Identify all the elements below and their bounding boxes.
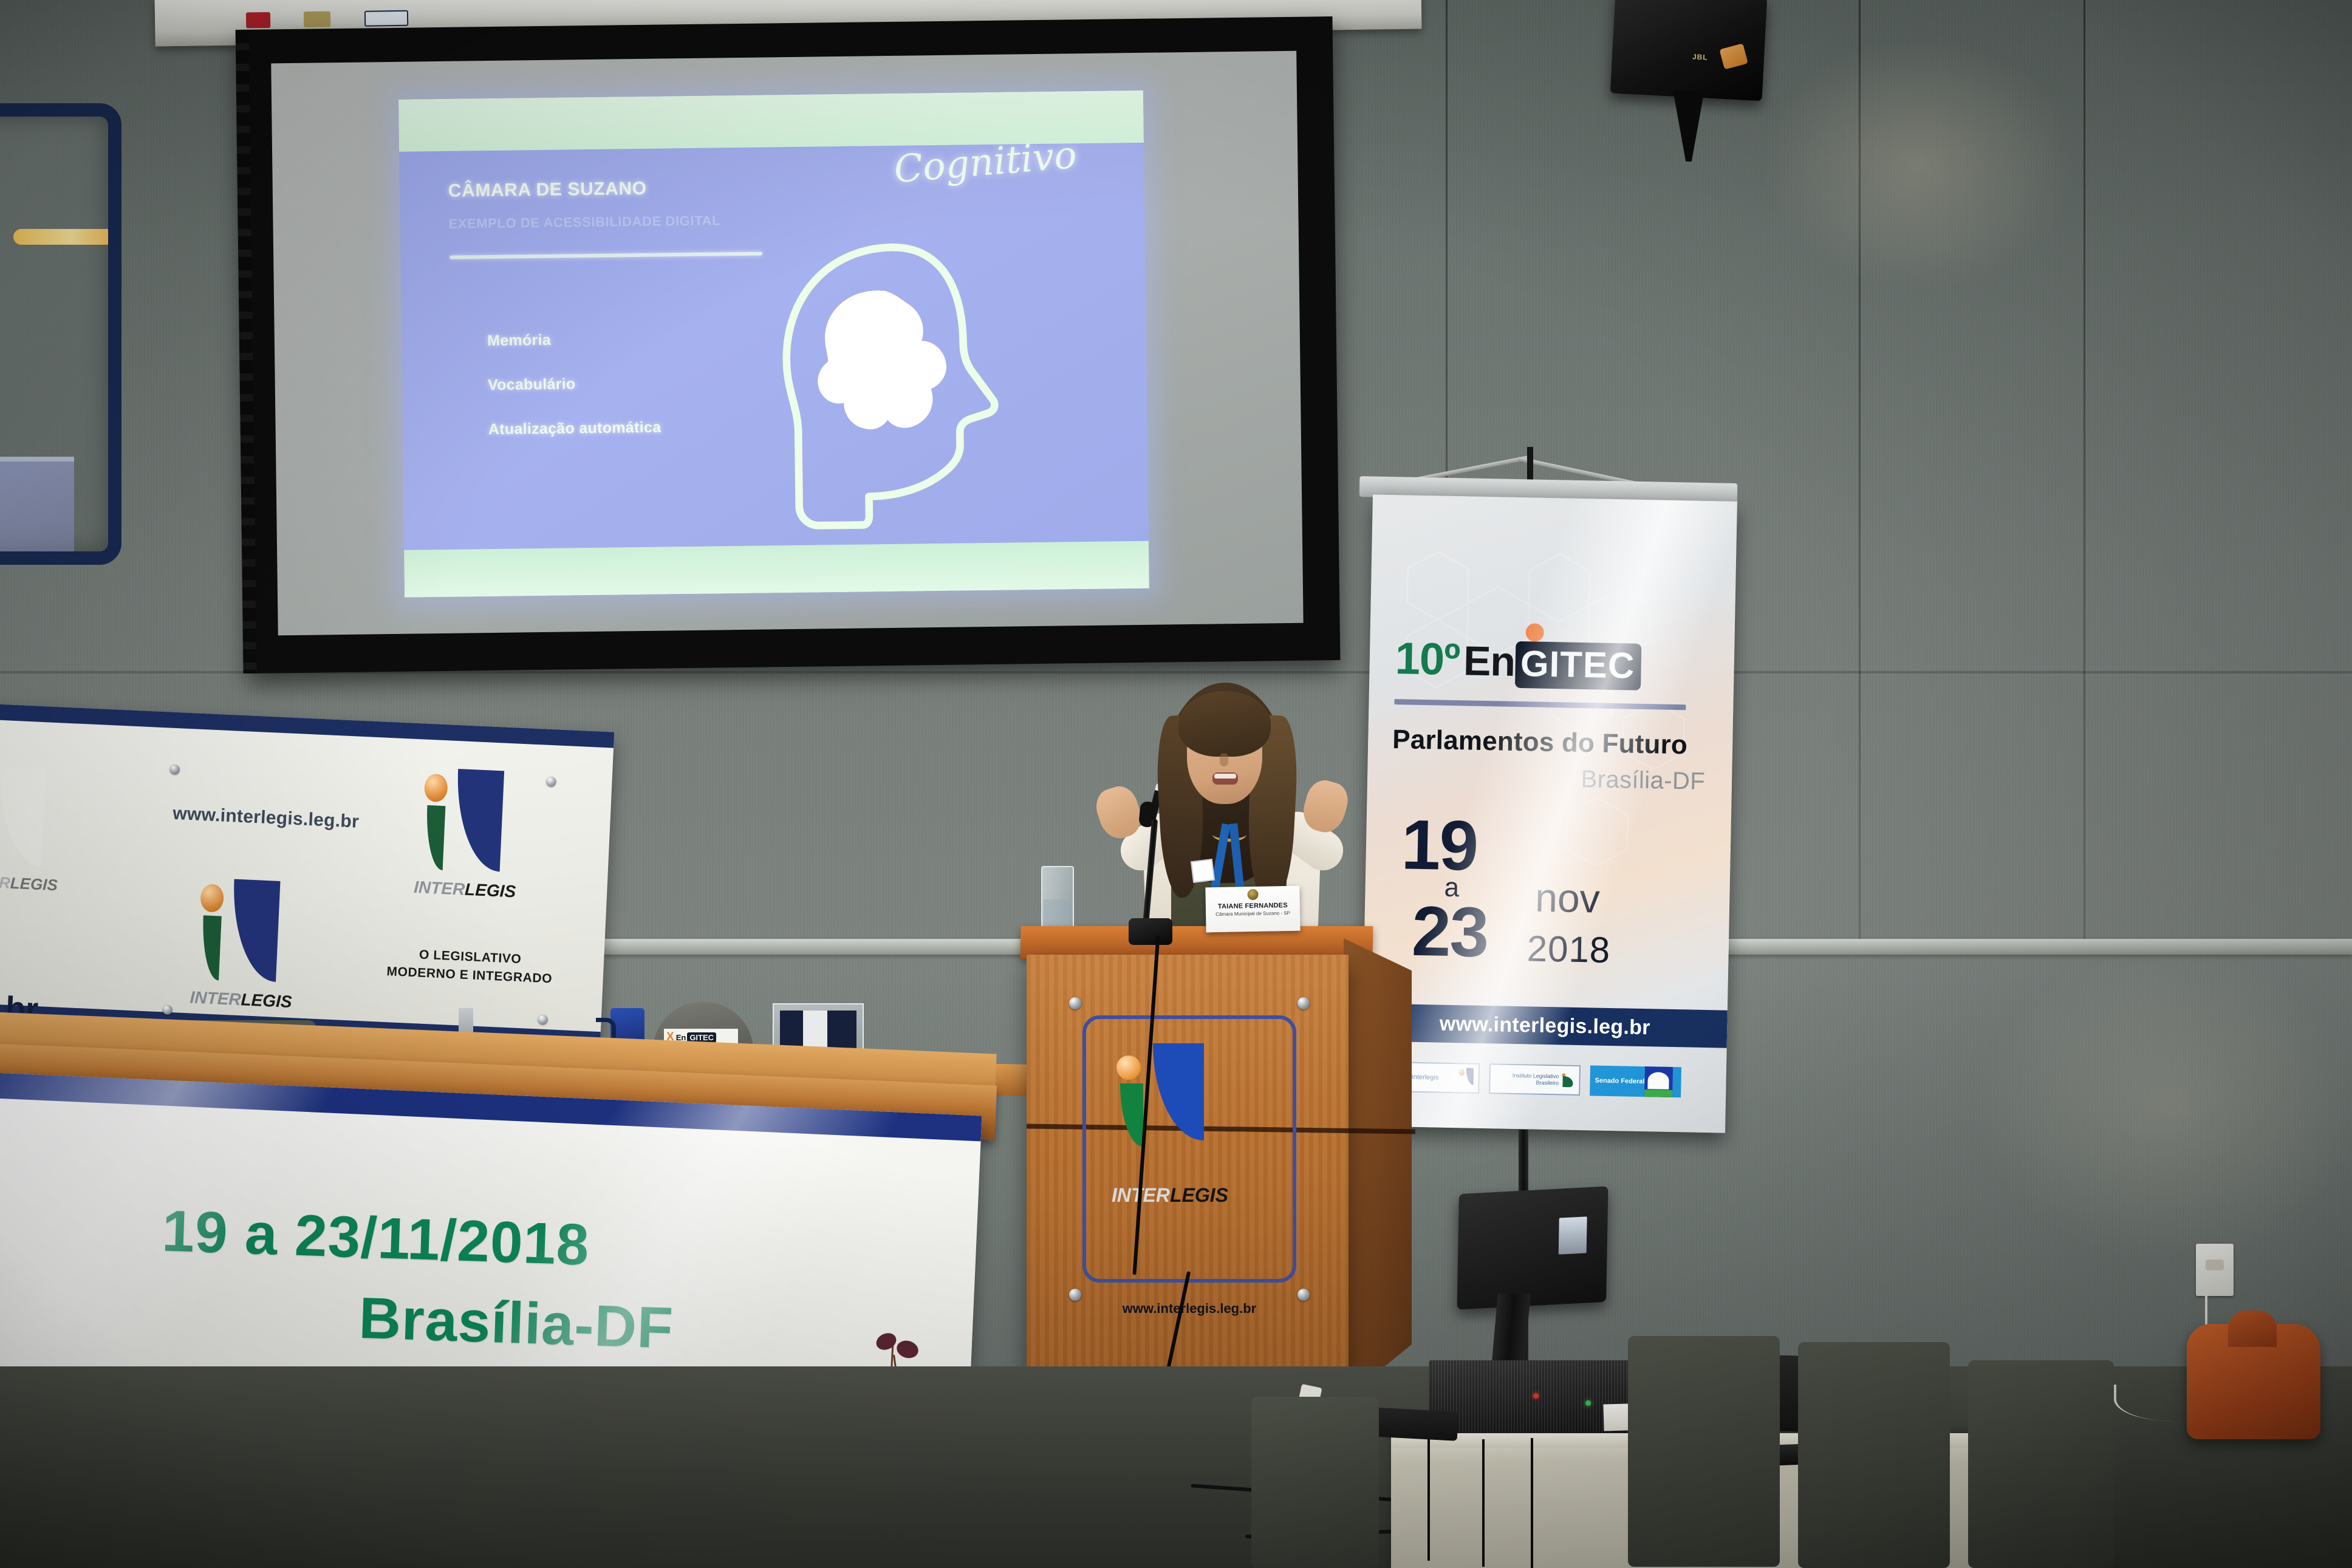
- wordmark-legis: LEGIS: [10, 874, 58, 895]
- projection-screen: CÂMARA DE SUZANO EXEMPLO DE ACESSIBILIDA…: [239, 16, 1341, 673]
- speaker-nameplate: TAIANE FERNANDES Câmara Municipal de Suz…: [1205, 886, 1300, 933]
- banner-light-sheen: [1361, 494, 1737, 1133]
- slide-bullet-list: Memória Vocabulário Atualização automáti…: [487, 330, 661, 438]
- wordmark-legis: LEGIS: [465, 880, 516, 901]
- plaque-screw: [1069, 1289, 1081, 1301]
- housing-label-gold: [304, 12, 330, 28]
- plaque-screw: [1297, 1289, 1310, 1301]
- glass-window-panel: [0, 103, 121, 565]
- sign-screw: [169, 765, 180, 775]
- wall-seam: [2084, 0, 2085, 947]
- housing-label-white: [364, 10, 408, 27]
- slide-title: CÂMARA DE SUZANO: [448, 179, 647, 202]
- flower-leaf: [873, 1330, 899, 1353]
- slide-bullet-3: Atualização automática: [488, 419, 661, 438]
- sign-screw: [546, 777, 556, 787]
- podium-interlegis-plaque: INTERLEGIS www.interlegis.leg.br: [1082, 1015, 1296, 1283]
- interlegis-dot-icon: [200, 884, 224, 913]
- gooseneck-mic-base: [1129, 918, 1172, 945]
- head-brain-icon: [728, 221, 1059, 553]
- pc-activity-led: [1585, 1400, 1591, 1406]
- nose: [1220, 753, 1228, 766]
- wordmark-legis: LEGIS: [1170, 1184, 1228, 1206]
- housing-label-red: [246, 12, 270, 29]
- chair-back: [1798, 1342, 1950, 1568]
- slide-bullet-1: Memória: [487, 330, 660, 350]
- slide-divider-rule: [450, 252, 762, 259]
- nameplate-organization: Câmara Municipal de Suzano - SP: [1215, 910, 1290, 917]
- mouth: [1212, 772, 1238, 785]
- engitec-rollup-banner: 10º En GITEC Parlamentos do Futuro Brasí…: [1361, 494, 1737, 1133]
- wall-outlet[interactable]: [2196, 1244, 2234, 1296]
- sign-url-text: www.interlegis.leg.br: [173, 803, 360, 833]
- banner-date: 19 a 23/11/2018: [161, 1198, 590, 1278]
- interlegis-logo: INTERLEGIS: [182, 877, 315, 1010]
- window-projection-reflection: [0, 457, 74, 565]
- window-light-reflection: [13, 229, 121, 245]
- interlegis-j-blue: [230, 879, 280, 982]
- teeth: [1214, 774, 1236, 779]
- interlegis-wordmark: INTERLEGIS: [190, 987, 292, 1012]
- banner-city: Brasília-DF: [358, 1285, 674, 1362]
- chair-back: [1251, 1397, 1379, 1568]
- interlegis-dot-icon: [1116, 1055, 1141, 1080]
- wordmark-inter: INTER: [0, 871, 11, 892]
- loudspeaker-icon: JBL: [1610, 0, 1768, 101]
- wordmark-legis: LEGIS: [241, 990, 292, 1011]
- monitor-sticker: [1559, 1216, 1587, 1255]
- wall-seam: [1859, 0, 1861, 947]
- water-glass: [1041, 866, 1074, 933]
- chair-back: [1628, 1336, 1780, 1567]
- podium-side-face: [1344, 938, 1412, 1400]
- plaque-screw: [1297, 997, 1310, 1009]
- desktop-pc-tower[interactable]: [1429, 1360, 1633, 1433]
- speaker-sticker: [1719, 43, 1748, 69]
- interlegis-logo: INTERLEGIS: [0, 763, 84, 890]
- hair-front: [1178, 691, 1271, 757]
- orange-backpack: [2187, 1324, 2320, 1439]
- interlegis-wordmark: INTERLEGIS: [1112, 1184, 1228, 1207]
- flower-leaf: [895, 1338, 920, 1361]
- presentation-slide: CÂMARA DE SUZANO EXEMPLO DE ACESSIBILIDA…: [398, 90, 1149, 597]
- speaker-brand-mark: JBL: [1692, 52, 1708, 61]
- podium-top-surface: [1020, 926, 1373, 959]
- wordmark-inter: INTER: [414, 878, 465, 899]
- plaque-url: www.interlegis.leg.br: [1123, 1301, 1256, 1317]
- interlegis-j-green: [200, 915, 222, 980]
- pc-power-led: [1533, 1393, 1539, 1399]
- sign-tagline: O LEGISLATIVO MODERNO E INTEGRADO: [372, 944, 567, 989]
- interlegis-j-green: [425, 805, 446, 870]
- slide-subtitle: EXEMPLO DE ACESSIBILIDADE DIGITAL: [448, 213, 720, 231]
- slide-bullet-2: Vocabulário: [488, 375, 661, 394]
- interlegis-dot-icon: [424, 774, 448, 803]
- interlegis-wall-sign: www.interlegis.leg.br INTERLEGIS INTERLE…: [0, 701, 614, 1048]
- conference-photo-scene: CÂMARA DE SUZANO EXEMPLO DE ACESSIBILIDA…: [0, 0, 2352, 1568]
- nameplate-name: TAIANE FERNANDES: [1218, 902, 1288, 910]
- wordmark-inter: INTER: [190, 987, 241, 1009]
- interlegis-wordmark: INTERLEGIS: [414, 878, 516, 902]
- screen-surface: CÂMARA DE SUZANO EXEMPLO DE ACESSIBILIDA…: [271, 51, 1303, 636]
- republic-crest-icon: [1247, 889, 1258, 900]
- interlegis-logo: INTERLEGIS: [406, 767, 539, 900]
- plaque-screw: [1069, 997, 1081, 1009]
- chair-back: [1968, 1360, 2114, 1568]
- lapel-pin-interlegis: [1191, 859, 1215, 883]
- interlegis-wordmark: INTERLEGIS: [0, 871, 58, 895]
- interlegis-j-blue: [0, 768, 46, 867]
- interlegis-j-blue: [454, 769, 504, 871]
- computer-monitor[interactable]: [1457, 1186, 1608, 1309]
- sign-screw: [538, 1014, 548, 1024]
